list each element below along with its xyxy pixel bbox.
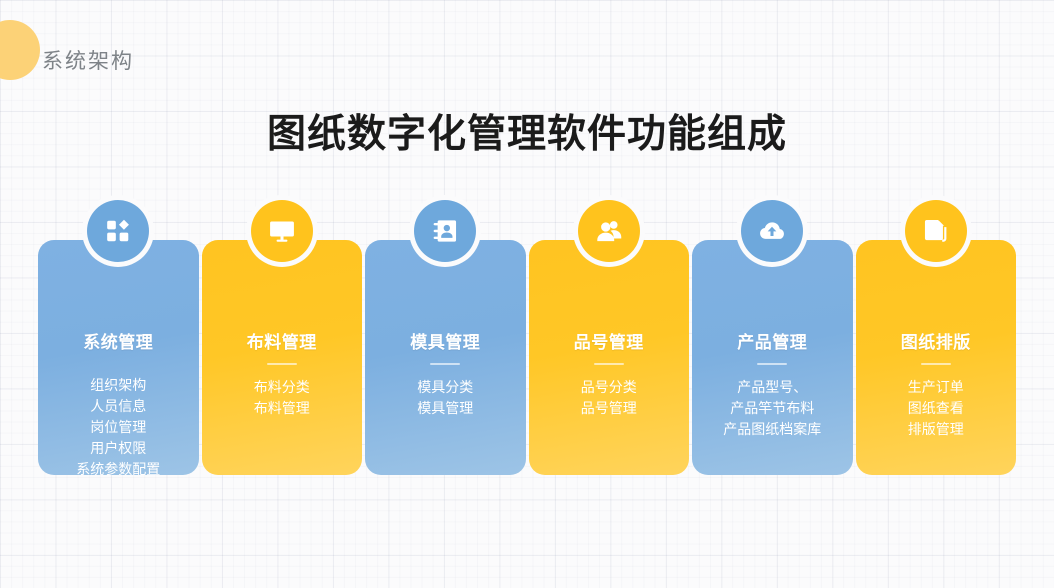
title-divider xyxy=(430,363,460,365)
feature-card-item[interactable]: 模具分类 xyxy=(417,377,473,398)
feature-card-item[interactable]: 图纸查看 xyxy=(908,398,964,419)
feature-card[interactable]: 品号管理品号分类品号管理 xyxy=(529,240,690,475)
feature-card-item-list: 布料分类布料管理 xyxy=(254,377,310,419)
document-fold-icon xyxy=(905,200,967,262)
feature-card-title: 系统管理 xyxy=(83,328,153,353)
cloud-upload-icon xyxy=(741,200,803,262)
feature-card-item-list: 产品型号、产品竿节布料产品图纸档案库 xyxy=(723,377,821,440)
feature-card-item[interactable]: 系统参数配置 xyxy=(76,459,160,480)
feature-card-title: 品号管理 xyxy=(574,328,644,353)
section-eyebrow-label: 系统架构 xyxy=(42,45,134,75)
feature-card-item[interactable]: 组织架构 xyxy=(76,375,160,396)
feature-card-item-list: 模具分类模具管理 xyxy=(417,377,473,419)
feature-card-item[interactable]: 岗位管理 xyxy=(76,417,160,438)
title-divider xyxy=(757,363,787,365)
feature-card[interactable]: 图纸排版生产订单图纸查看排版管理 xyxy=(856,240,1017,475)
feature-card-item[interactable]: 布料管理 xyxy=(254,398,310,419)
dashboard-grid-icon xyxy=(87,200,149,262)
feature-card-item[interactable]: 布料分类 xyxy=(254,377,310,398)
feature-card-item[interactable]: 人员信息 xyxy=(76,396,160,417)
feature-card-item[interactable]: 排版管理 xyxy=(908,419,964,440)
feature-card-item[interactable]: 产品图纸档案库 xyxy=(723,419,821,440)
feature-card-item-list: 组织架构人员信息岗位管理用户权限系统参数配置 xyxy=(76,375,160,480)
feature-card-title: 布料管理 xyxy=(247,328,317,353)
title-divider xyxy=(267,363,297,365)
feature-card-item[interactable]: 用户权限 xyxy=(76,438,160,459)
feature-card[interactable]: 系统管理组织架构人员信息岗位管理用户权限系统参数配置 xyxy=(38,240,199,475)
feature-card[interactable]: 布料管理布料分类布料管理 xyxy=(202,240,363,475)
feature-card-item[interactable]: 模具管理 xyxy=(417,398,473,419)
feature-card[interactable]: 产品管理产品型号、产品竿节布料产品图纸档案库 xyxy=(692,240,853,475)
feature-card-title: 图纸排版 xyxy=(901,328,971,353)
feature-card-item[interactable]: 品号分类 xyxy=(581,377,637,398)
feature-card[interactable]: 模具管理模具分类模具管理 xyxy=(365,240,526,475)
monitor-chart-icon xyxy=(251,200,313,262)
feature-card-item[interactable]: 生产订单 xyxy=(908,377,964,398)
page-title: 图纸数字化管理软件功能组成 xyxy=(0,103,1054,159)
feature-card-item[interactable]: 品号管理 xyxy=(581,398,637,419)
feature-card-item[interactable]: 产品竿节布料 xyxy=(723,398,821,419)
title-divider xyxy=(594,363,624,365)
feature-card-title: 模具管理 xyxy=(410,328,480,353)
feature-card-item-list: 品号分类品号管理 xyxy=(581,377,637,419)
users-group-icon xyxy=(578,200,640,262)
feature-card-row: 系统管理组织架构人员信息岗位管理用户权限系统参数配置 布料管理布料分类布料管理 … xyxy=(38,200,1016,475)
title-divider xyxy=(921,363,951,365)
feature-card-item-list: 生产订单图纸查看排版管理 xyxy=(908,377,964,440)
address-book-icon xyxy=(414,200,476,262)
feature-card-title: 产品管理 xyxy=(737,328,807,353)
feature-card-item[interactable]: 产品型号、 xyxy=(723,377,821,398)
